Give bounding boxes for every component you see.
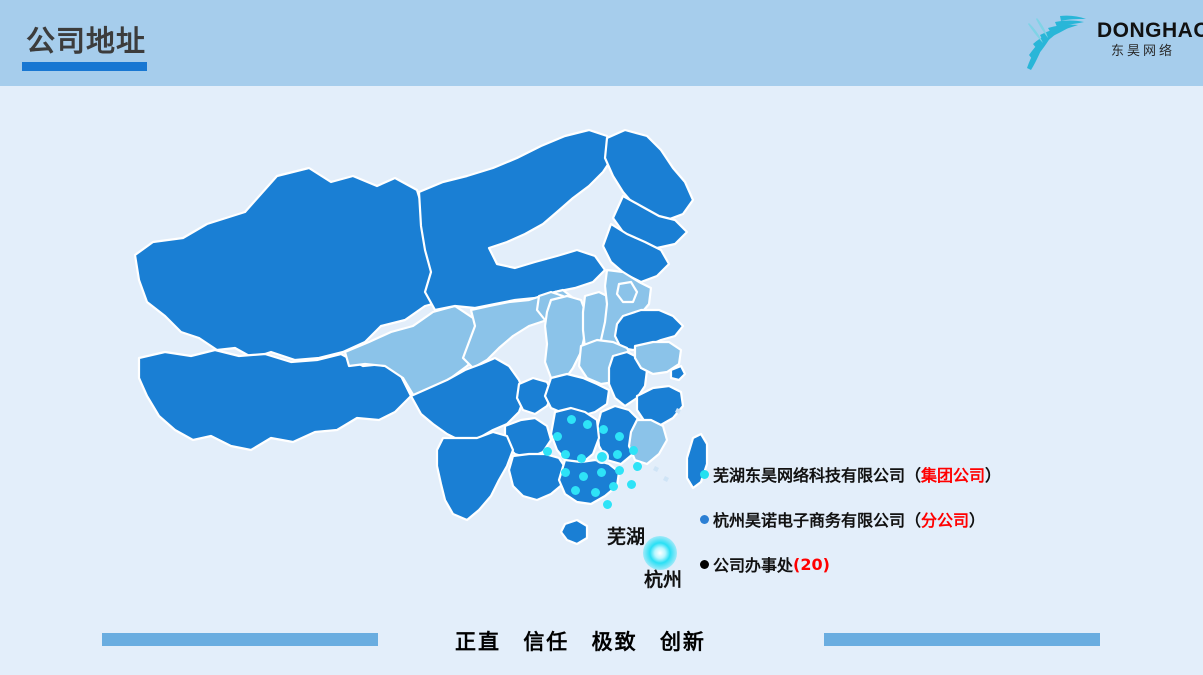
legend-label: 杭州昊诺电子商务有限公司 — [713, 507, 905, 531]
legend-bullet-cyan — [700, 470, 709, 479]
marker-office[interactable] — [627, 480, 636, 489]
marker-office[interactable] — [553, 432, 562, 441]
province-inner-mongolia — [419, 130, 615, 310]
slogan-word-2: 信任 — [523, 630, 569, 654]
footer-bar-left — [102, 633, 378, 646]
marker-office[interactable] — [633, 462, 642, 471]
city-label-wuhu: 芜湖 — [607, 522, 645, 549]
legend-label: 公司办事处 — [713, 552, 793, 576]
marker-office[interactable] — [543, 447, 552, 456]
marker-office[interactable] — [615, 432, 624, 441]
legend-label: 芜湖东昊网络科技有限公司 — [713, 462, 905, 486]
province-hainan — [561, 520, 587, 544]
marker-branch-hangzhou[interactable] — [595, 450, 609, 464]
legend-tag: (20) — [793, 555, 830, 574]
marker-headquarters-wuhu[interactable] — [643, 536, 677, 570]
marker-office[interactable] — [609, 482, 618, 491]
footer-bar-right — [824, 633, 1100, 646]
slogan-word-1: 正直 — [455, 630, 501, 654]
slogan-word-4: 创新 — [660, 630, 706, 654]
map-legend: 芜湖东昊网络科技有限公司 （ 集团公司 ） 杭州昊诺电子商务有限公司 （ 分公司… — [700, 462, 1120, 597]
china-map[interactable]: 芜湖 杭州 — [95, 120, 715, 620]
logo-name-cn: 东昊网络 — [1097, 42, 1189, 60]
legend-paren-close: ） — [969, 507, 985, 531]
legend-bullet-black — [700, 560, 709, 569]
marker-office[interactable] — [561, 468, 570, 477]
province-beijing — [617, 282, 637, 302]
legend-item-branch-company: 杭州昊诺电子商务有限公司 （ 分公司 ） — [700, 507, 1120, 531]
province-yunnan — [437, 432, 513, 520]
legend-bullet-blue — [700, 515, 709, 524]
page-title: 公司地址 — [26, 18, 146, 60]
title-underline-accent — [22, 62, 147, 71]
marker-office[interactable] — [561, 450, 570, 459]
legend-item-group-company: 芜湖东昊网络科技有限公司 （ 集团公司 ） — [700, 462, 1120, 486]
province-fujian — [629, 420, 667, 464]
province-shanghai — [671, 366, 685, 380]
marker-office[interactable] — [577, 454, 586, 463]
legend-tag: 集团公司 — [921, 462, 985, 486]
marker-office[interactable] — [613, 450, 622, 459]
legend-tag: 分公司 — [921, 507, 969, 531]
legend-item-offices: 公司办事处 (20) — [700, 552, 1120, 576]
marker-office[interactable] — [579, 472, 588, 481]
logo-name-en: DONGHAO — [1097, 20, 1189, 42]
marker-office[interactable] — [583, 420, 592, 429]
footer-slogan: 正直 信任 极致 创新 — [455, 626, 706, 656]
province-guangxi — [509, 454, 567, 500]
marker-office[interactable] — [567, 415, 576, 424]
page-header: 公司地址 DONGHAO 东昊网络 — [0, 0, 1203, 86]
marker-office[interactable] — [615, 466, 624, 475]
fan-wing-icon — [1015, 8, 1095, 74]
legend-paren-open: （ — [905, 507, 921, 531]
legend-paren-close: ） — [985, 462, 1001, 486]
company-logo: DONGHAO 东昊网络 — [1015, 8, 1185, 74]
logo-text-block: DONGHAO 东昊网络 — [1097, 20, 1189, 60]
marker-office[interactable] — [599, 425, 608, 434]
marker-office[interactable] — [571, 486, 580, 495]
marker-office[interactable] — [629, 446, 638, 455]
legend-paren-open: （ — [905, 462, 921, 486]
marker-office[interactable] — [603, 500, 612, 509]
marker-office[interactable] — [591, 488, 600, 497]
slogan-word-3: 极致 — [592, 630, 638, 654]
marker-office[interactable] — [597, 468, 606, 477]
